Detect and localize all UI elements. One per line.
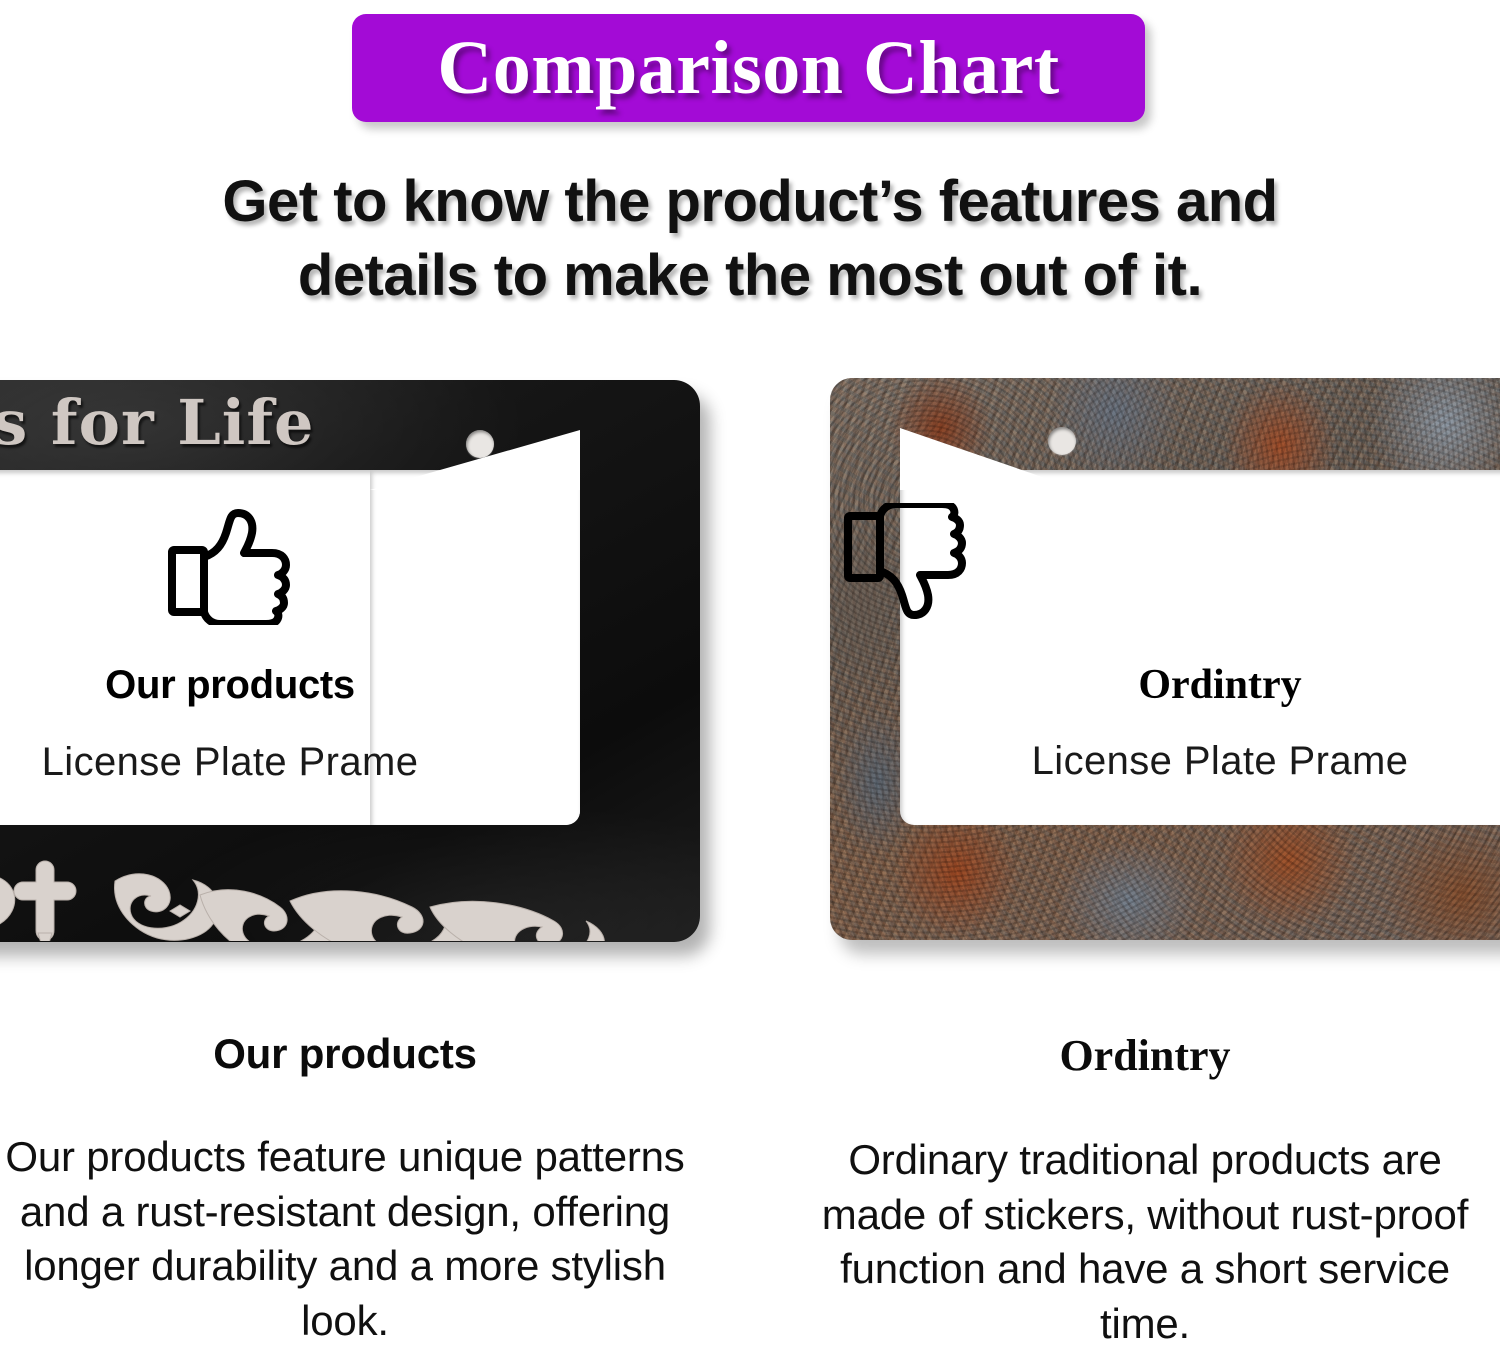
ordinary-product-plate-heading: Ordintry bbox=[840, 661, 1500, 709]
our-product-description-column: Our products Our products feature unique… bbox=[0, 1030, 690, 1348]
mounting-hole bbox=[466, 430, 494, 458]
ordinary-product-column-body: Ordinary traditional products are made o… bbox=[800, 1133, 1490, 1351]
our-product-column-body: Our products feature unique patterns and… bbox=[0, 1130, 690, 1348]
frame-engraved-text: esus for Life bbox=[0, 392, 314, 454]
our-product-column-title: Our products bbox=[0, 1030, 690, 1078]
mounting-hole bbox=[1048, 427, 1076, 455]
ordinary-product-column-title: Ordintry bbox=[800, 1030, 1490, 1081]
our-product-plate-heading: Our products bbox=[0, 663, 580, 708]
thumbs-up-icon bbox=[164, 505, 296, 625]
our-product-plate-subheading: License Plate Prame bbox=[0, 740, 580, 785]
ordinary-product-plate-content: Ordintry License Plate Prame bbox=[900, 503, 1500, 784]
thumbs-down-icon bbox=[840, 503, 972, 623]
our-product-plate-content: Our products License Plate Prame bbox=[0, 505, 580, 785]
ordinary-product-description-column: Ordintry Ordinary traditional products a… bbox=[800, 1030, 1490, 1351]
ordinary-product-plate-subheading: License Plate Prame bbox=[840, 739, 1500, 784]
